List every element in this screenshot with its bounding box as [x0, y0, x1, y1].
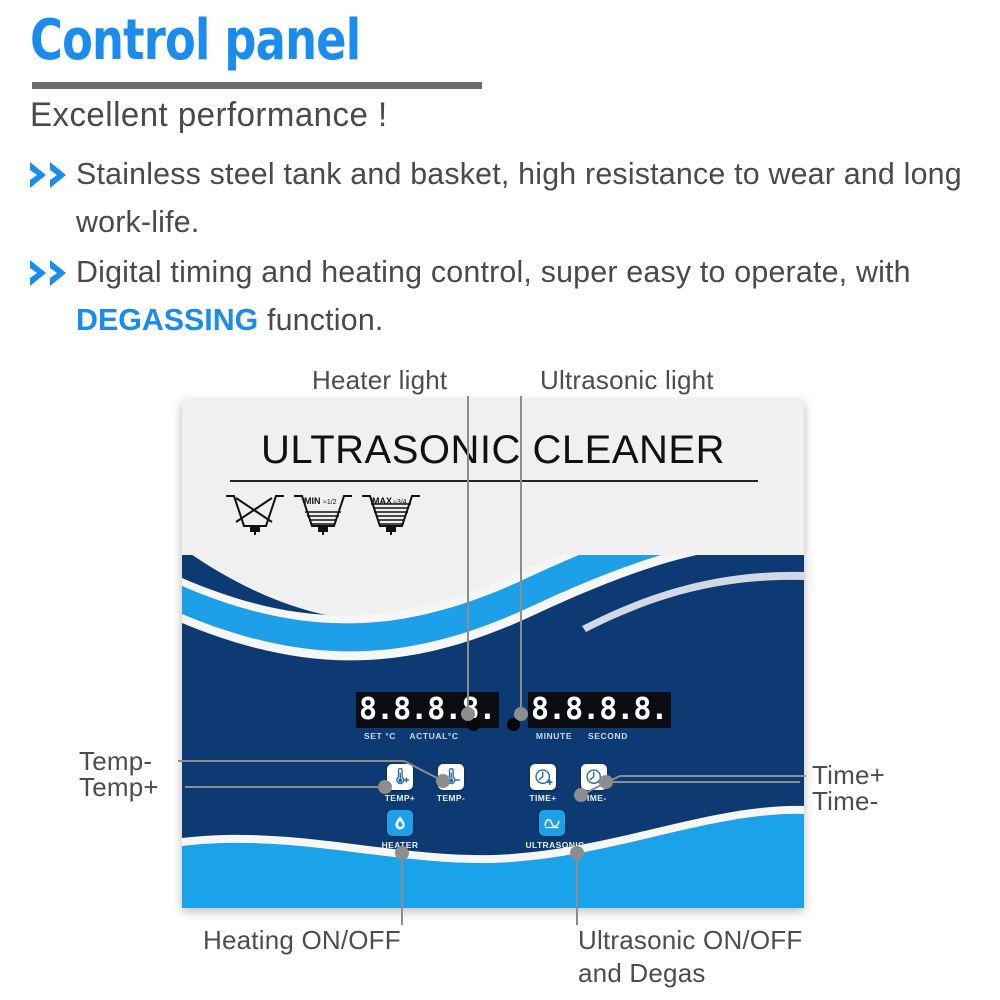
time-up-button[interactable]	[530, 764, 556, 790]
heater-lamp	[467, 718, 480, 731]
tank-min-level-icon: MIN ≈1/2	[294, 496, 352, 535]
thermometer-plus-icon	[391, 768, 409, 786]
caption-actual-c: ACTUAL°C	[404, 731, 464, 741]
double-chevron-right-icon	[28, 160, 76, 194]
timer-display-screen: 8.8.8.8.	[528, 692, 671, 728]
svg-text:MAX: MAX	[372, 496, 392, 506]
sine-wave-icon	[543, 815, 561, 831]
ultrasonic-button[interactable]	[539, 810, 565, 836]
subtitle: Excellent performance !	[30, 96, 388, 135]
feature-bullet-1: Stainless steel tank and basket, high re…	[28, 150, 988, 246]
temp-up-button[interactable]	[387, 764, 413, 790]
callout-time-minus-label: Time-	[812, 786, 878, 817]
heater-button-label: HEATER	[365, 840, 435, 850]
degassing-emphasis: DEGASSING	[76, 302, 258, 337]
panel-header-area: ULTRASONIC CLEANER MIN ≈1/2	[182, 400, 804, 555]
water-drop-flame-icon	[392, 815, 408, 831]
product-title: ULTRASONIC CLEANER	[182, 428, 804, 473]
callout-ultrasonic-light-label: Ultrasonic light	[540, 365, 714, 396]
clock-minus-icon	[585, 768, 604, 787]
product-title-underline	[230, 480, 758, 482]
callout-ultrasonic-onoff-label-2: and Degas	[578, 958, 706, 989]
thermometer-minus-icon	[442, 768, 460, 786]
tank-max-level-icon: MAX ≈3/4	[362, 496, 420, 535]
callout-ultrasonic-onoff-label-1: Ultrasonic ON/OFF	[578, 925, 802, 956]
temp-down-button[interactable]	[438, 764, 464, 790]
title-divider	[32, 82, 482, 89]
temperature-display-captions: SET °C ACTUAL°C	[356, 731, 499, 741]
svg-text:≈3/4: ≈3/4	[393, 499, 407, 506]
caption-minute: MINUTE	[528, 731, 580, 741]
heater-button[interactable]	[387, 810, 413, 836]
ultrasonic-lamp	[507, 718, 520, 731]
temp-down-button-label: TEMP-	[416, 793, 486, 803]
timer-digits: 8.8.8.8.	[531, 694, 668, 726]
feature-bullet-2-text-before: Digital timing and heating control, supe…	[76, 254, 911, 289]
time-down-button[interactable]	[581, 764, 607, 790]
callout-temp-plus-label: Temp+	[79, 772, 159, 803]
timer-display-captions: MINUTE SECOND	[528, 731, 671, 741]
page-title: Control panel	[30, 12, 360, 70]
control-panel-image: ULTRASONIC CLEANER MIN ≈1/2	[182, 400, 804, 908]
caption-second: SECOND	[580, 731, 636, 741]
control-panel-face: ULTRASONIC CLEANER MIN ≈1/2	[182, 400, 804, 908]
tank-empty-no-water-icon	[226, 496, 284, 535]
temperature-display: 8.8.8.8. SET °C ACTUAL°C	[356, 692, 499, 741]
timer-display: 8.8.8.8. MINUTE SECOND	[528, 692, 671, 741]
clock-plus-icon	[534, 768, 553, 787]
feature-bullet-2-text: Digital timing and heating control, supe…	[76, 248, 911, 344]
time-down-button-label: TIME-	[559, 793, 629, 803]
svg-text:MIN: MIN	[304, 496, 321, 506]
caption-set-c: SET °C	[356, 731, 404, 741]
ultrasonic-button-label: ULTRASONIC	[520, 840, 590, 850]
water-level-icons: MIN ≈1/2 MAX ≈3/4	[222, 488, 422, 538]
double-chevron-right-icon	[28, 258, 76, 292]
callout-heating-onoff-label: Heating ON/OFF	[203, 925, 401, 956]
header-section: Control panel Excellent performance ! St…	[0, 0, 1000, 350]
feature-bullet-1-text: Stainless steel tank and basket, high re…	[76, 150, 970, 246]
feature-bullet-2-text-after: function.	[258, 302, 383, 337]
callout-heater-light-label: Heater light	[312, 365, 447, 396]
feature-bullet-2: Digital timing and heating control, supe…	[28, 248, 928, 344]
svg-text:≈1/2: ≈1/2	[323, 499, 337, 506]
